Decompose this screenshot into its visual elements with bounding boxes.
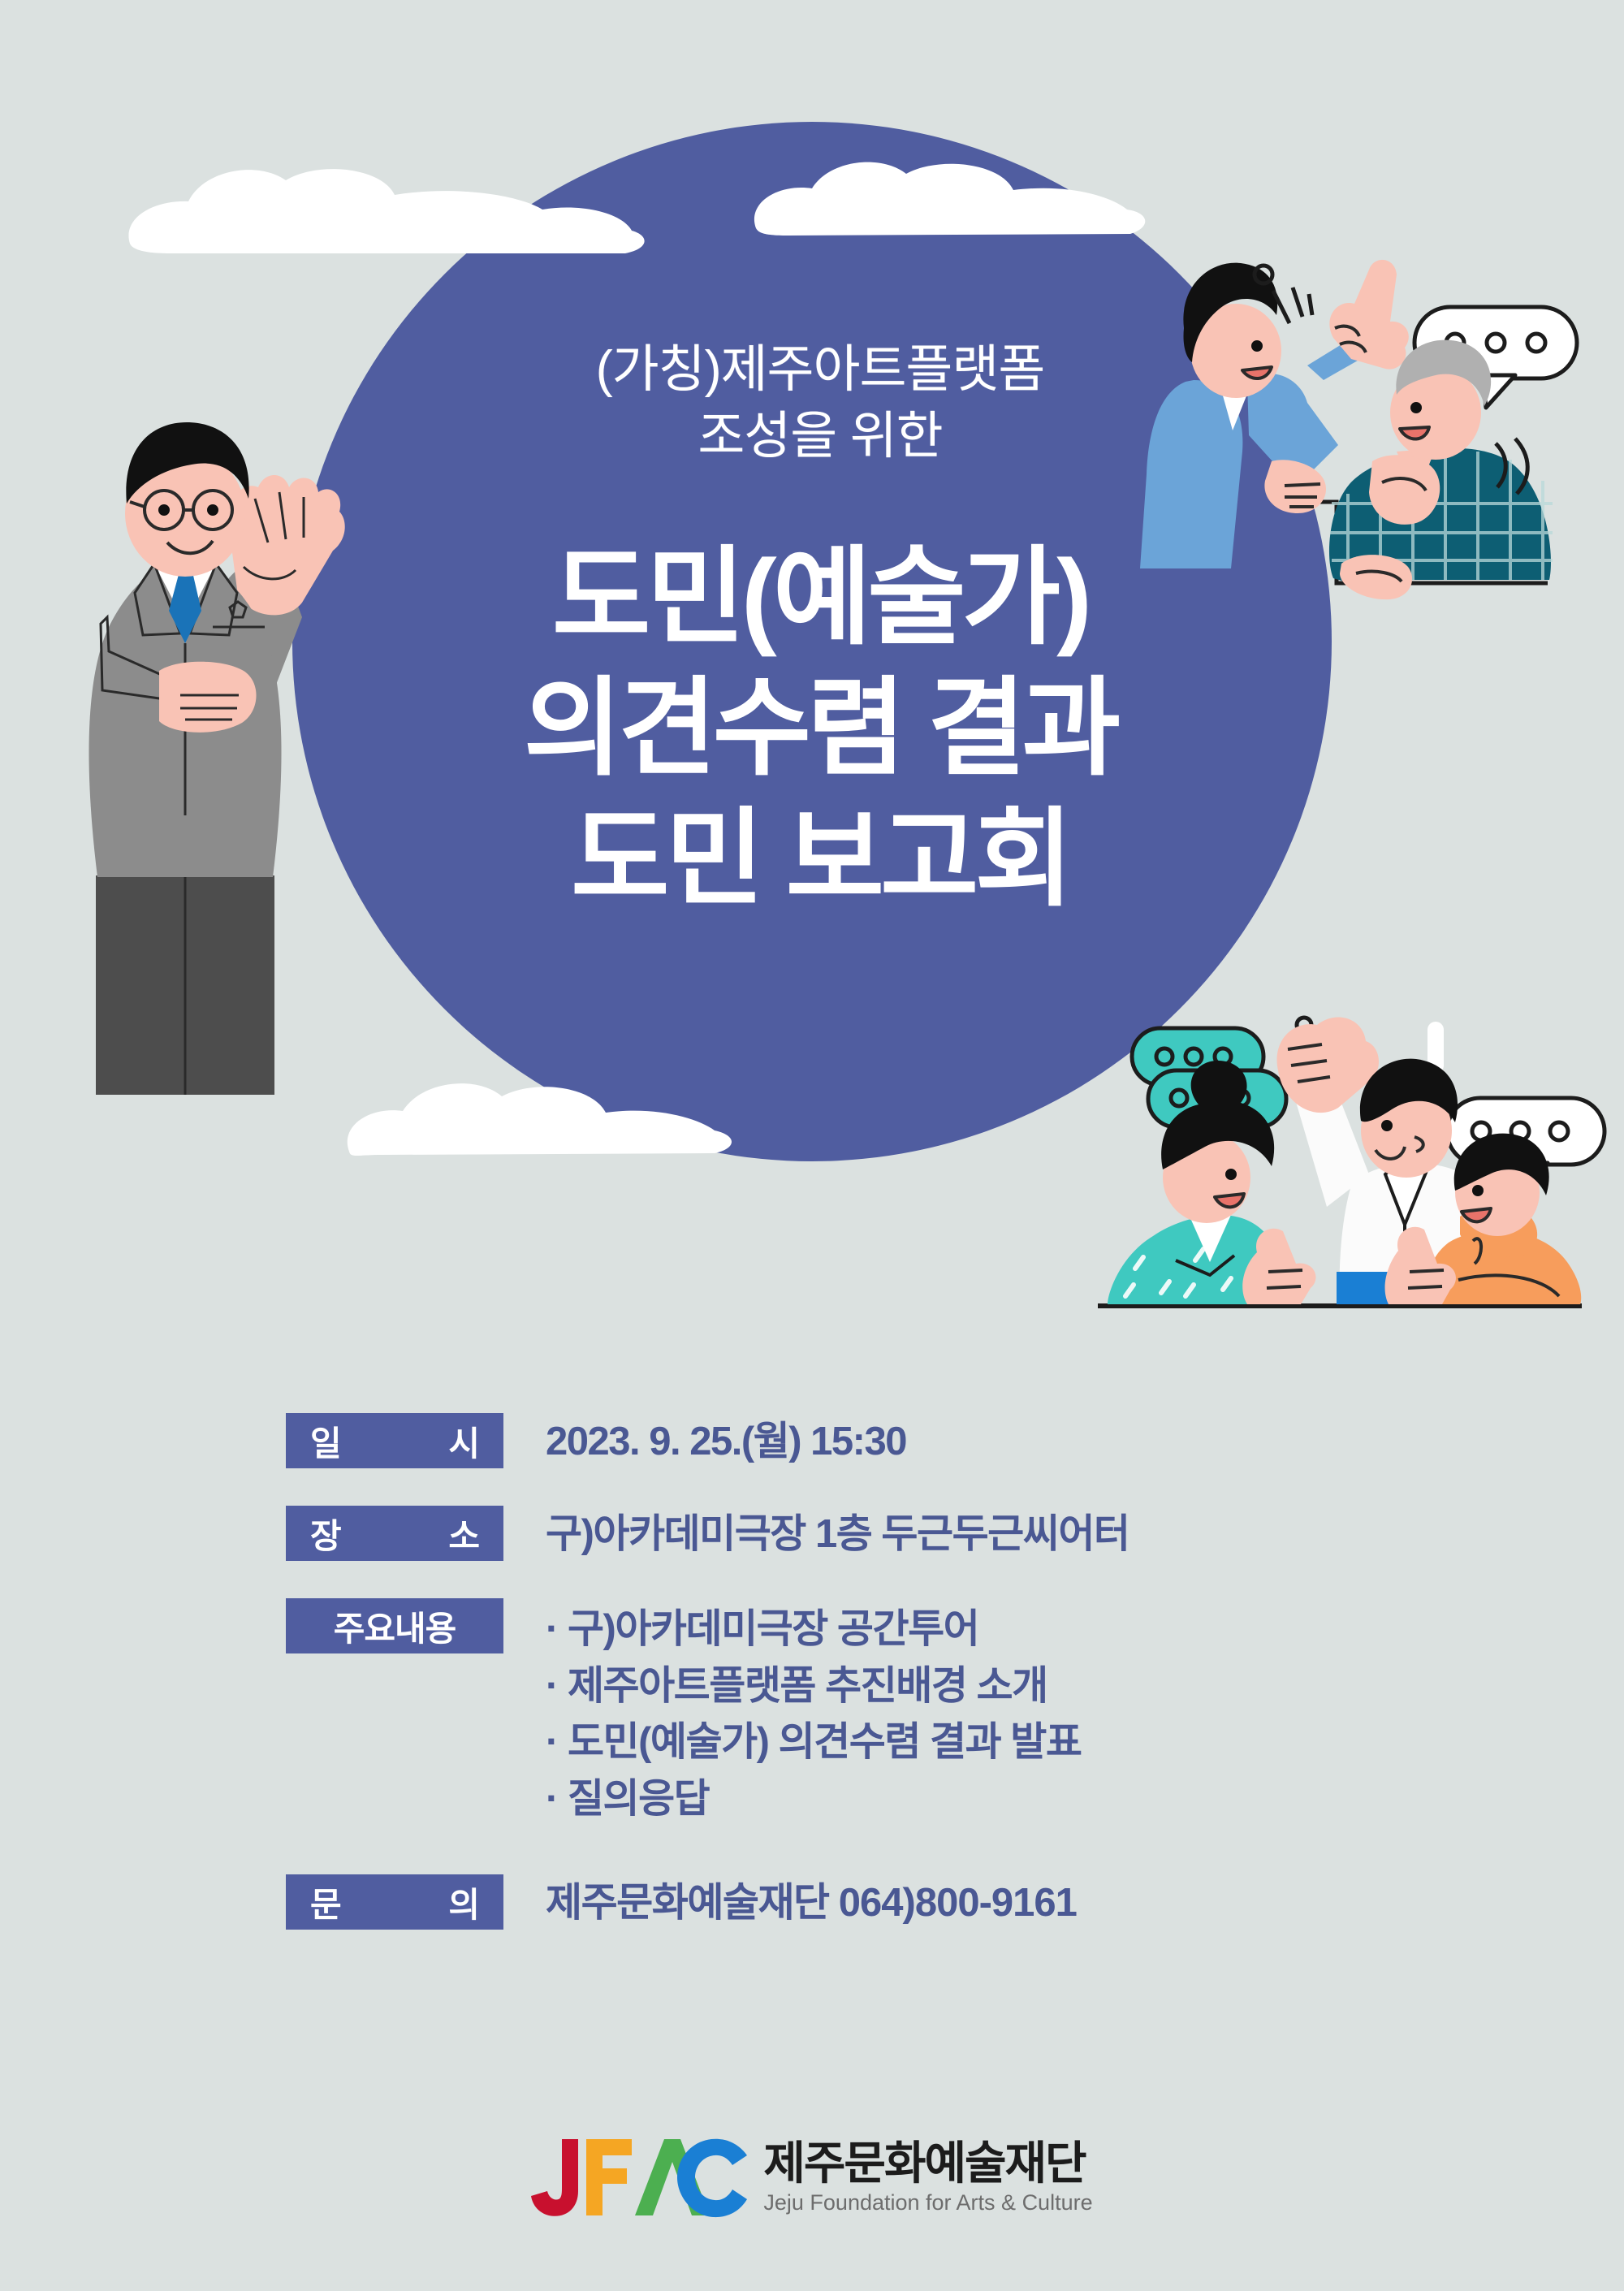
label-badge-contact: 문 의 (286, 1874, 503, 1930)
lapel-left (135, 564, 180, 635)
jfac-logo-icon (531, 2134, 749, 2220)
label-contact-char-1: 문 (310, 1878, 341, 1927)
label-badge-venue: 장 소 (286, 1506, 503, 1561)
head (125, 450, 245, 577)
info-row-program: 주요내용 구)아카데미극장 공간투어 제주아트플랫폼 추진배경 소개 도민(예술… (286, 1598, 1374, 1827)
shirt (154, 555, 216, 624)
logo-name-korean: 제주문화예술재단 (763, 2141, 1092, 2186)
list-item: 구)아카데미극장 공간투어 (546, 1602, 1081, 1658)
grey-hair (1396, 340, 1491, 406)
woman-teal-top (1108, 1061, 1315, 1304)
exclamation-mark (1425, 1022, 1446, 1102)
hood (1460, 1204, 1537, 1256)
label-datetime-char-1: 일 (310, 1416, 341, 1466)
value-contact: 제주문화예술재단 064)800-9161 (546, 1874, 1077, 1930)
resting-hand (159, 662, 257, 733)
jfac-logo: 제주문화예술재단 Jeju Foundation for Arts & Cult… (0, 2134, 1624, 2220)
pointing-arm (1247, 374, 1338, 487)
event-info-table: 일 시 2023. 9. 25.(월) 15:30 장 소 구)아카데미극장 1… (286, 1413, 1374, 1930)
value-program: 구)아카데미극장 공간투어 제주아트플랫폼 추진배경 소개 도민(예술가) 의견… (546, 1598, 1081, 1827)
man-white-shirt-cheering (1277, 1017, 1489, 1304)
poster-title: 도민(예술가) 의견수렴 결과 도민 보고회 (349, 532, 1291, 924)
bun-hair (1161, 1061, 1274, 1169)
hair-right (1454, 1134, 1549, 1195)
list-item: 질의응답 (546, 1771, 1081, 1828)
label-program-text: 주요내용 (334, 1602, 456, 1651)
tie (169, 568, 201, 643)
glasses (130, 491, 232, 530)
elderly-lower-hand (1340, 555, 1412, 599)
thumbs-up-right (1385, 1227, 1456, 1304)
info-row-contact: 문 의 제주문화예술재단 064)800-9161 (286, 1874, 1374, 1930)
blue-mug (1337, 1272, 1397, 1304)
lapel-right (190, 564, 237, 635)
orange-hoodie (1427, 1230, 1581, 1304)
thumbs-up-left (1242, 1229, 1315, 1304)
label-datetime-char-2: 시 (448, 1416, 479, 1466)
logo-name-english: Jeju Foundation for Arts & Culture (763, 2192, 1092, 2214)
cloud-mid-left (348, 1083, 732, 1156)
value-datetime: 2023. 9. 25.(월) 15:30 (546, 1413, 906, 1468)
program-bullet-list: 구)아카데미극장 공간투어 제주아트플랫폼 추진배경 소개 도민(예술가) 의견… (546, 1602, 1081, 1827)
hair-centre (1360, 1059, 1458, 1122)
collar-white (1385, 1161, 1426, 1225)
woman-open-hand (1264, 460, 1326, 513)
label-contact-char-2: 의 (448, 1878, 479, 1927)
logo-wordmark: 제주문화예술재단 Jeju Foundation for Arts & Cult… (763, 2141, 1092, 2214)
label-badge-program: 주요내용 (286, 1598, 503, 1653)
contact-phone[interactable]: 064)800-9161 (839, 1881, 1077, 1925)
label-venue-char-2: 소 (448, 1509, 479, 1558)
collar (1397, 448, 1436, 497)
woman-hair (1183, 263, 1277, 362)
teal-top (1108, 1215, 1289, 1304)
contact-organization: 제주문화예술재단 (546, 1881, 829, 1925)
logo-letter-f (586, 2139, 632, 2215)
logo-letter-j (531, 2139, 578, 2216)
pointing-hand (1329, 260, 1409, 370)
raised-arm (205, 560, 302, 742)
hair (126, 422, 248, 504)
info-row-datetime: 일 시 2023. 9. 25.(월) 15:30 (286, 1413, 1374, 1468)
speech-bubble-teal (1132, 1028, 1286, 1153)
three-people-cheering-illustration (1098, 1017, 1605, 1306)
crossed-arm (101, 617, 171, 700)
info-row-venue: 장 소 구)아카데미극장 1층 두근두근씨어터 (286, 1506, 1374, 1561)
suit-jacket (89, 559, 281, 877)
white-shirt (1340, 1163, 1489, 1304)
raised-arm-white (1294, 1069, 1369, 1207)
lapel-pin (230, 602, 246, 617)
value-venue: 구)아카데미극장 1층 두근두근씨어터 (546, 1506, 1129, 1561)
list-item: 도민(예술가) 의견수렴 결과 발표 (546, 1714, 1081, 1771)
speech-bubble-white-bottom (1447, 1098, 1605, 1195)
plaid-body (1329, 448, 1551, 581)
list-item: 제주아트플랫폼 추진배경 소개 (546, 1658, 1081, 1715)
elderly-person-thinking (1329, 340, 1553, 600)
person-orange-hoodie (1385, 1134, 1582, 1304)
woman-collar (1218, 378, 1252, 430)
label-venue-char-1: 장 (310, 1509, 341, 1558)
cloud-top-left (128, 169, 644, 253)
man-in-grey-suit-waving-illustration (89, 422, 344, 1095)
cloud-top-right (754, 162, 1145, 236)
poster-canvas: (가칭)제주아트플랫폼 조성을 위한 도민(예술가) 의견수렴 결과 도민 보고… (0, 0, 1624, 2291)
speech-bubble-white-top (1415, 307, 1577, 408)
collar-teal (1190, 1207, 1231, 1262)
poster-subtitle: (가칭)제주아트플랫폼 조성을 위한 (455, 337, 1186, 470)
raised-fist (1277, 1017, 1379, 1113)
smile (167, 541, 213, 553)
trousers (96, 875, 274, 1095)
logo-letter-c (677, 2139, 747, 2217)
label-badge-datetime: 일 시 (286, 1413, 503, 1468)
waving-hand (229, 475, 345, 615)
chin-hand (1369, 455, 1440, 525)
